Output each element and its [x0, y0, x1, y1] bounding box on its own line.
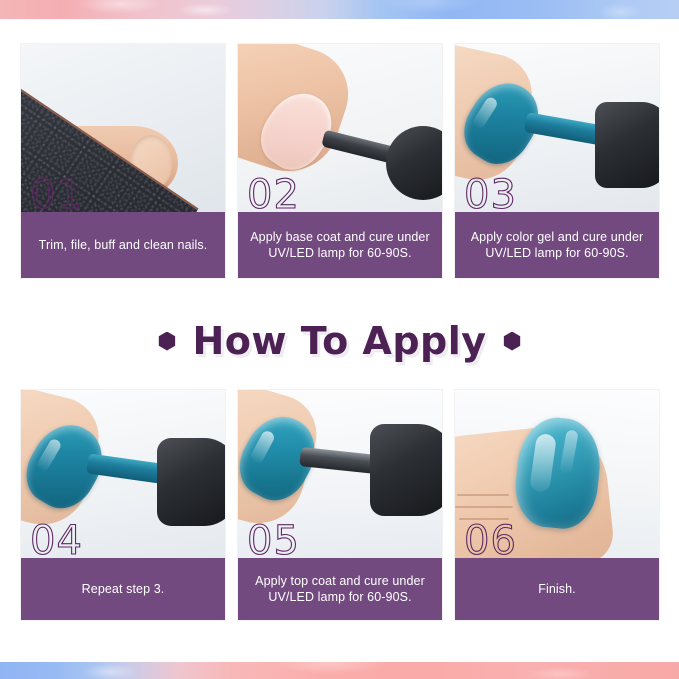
- step-image-05: 05: [238, 390, 442, 558]
- step-image-03: 03: [455, 44, 659, 212]
- step-image-06: 06: [455, 390, 659, 558]
- step-card-03[interactable]: 03 Apply color gel and cure under UV/LED…: [455, 44, 659, 278]
- bottle-cap: [157, 438, 225, 526]
- step-number-06: 06: [464, 521, 517, 558]
- step-caption-04: Repeat step 3.: [21, 558, 225, 620]
- bottle-cap: [595, 102, 659, 188]
- hexagon-dot-left-icon: [157, 332, 176, 351]
- step-image-02: 02: [238, 44, 442, 212]
- step-number-05: 05: [247, 521, 300, 558]
- steps-row-bottom: 04 Repeat step 3. 05 Apply top coat and …: [21, 390, 659, 620]
- bottom-watercolor-band: [0, 662, 679, 679]
- section-title: How To Apply: [0, 310, 679, 372]
- step-card-01[interactable]: 01 Trim, file, buff and clean nails.: [21, 44, 225, 278]
- title-text: How To Apply: [192, 319, 486, 363]
- finger-crease: [455, 506, 513, 508]
- step-caption-01: Trim, file, buff and clean nails.: [21, 212, 225, 278]
- step-card-05[interactable]: 05 Apply top coat and cure under UV/LED …: [238, 390, 442, 620]
- step-card-06[interactable]: 06 Finish.: [455, 390, 659, 620]
- step-image-04: 04: [21, 390, 225, 558]
- step-caption-02: Apply base coat and cure under UV/LED la…: [238, 212, 442, 278]
- finger-crease: [457, 494, 509, 496]
- top-watercolor-band: [0, 0, 679, 19]
- step-number-01: 01: [30, 175, 83, 212]
- step-caption-03: Apply color gel and cure under UV/LED la…: [455, 212, 659, 278]
- bottle-cap: [370, 424, 442, 516]
- step-card-02[interactable]: 02 Apply base coat and cure under UV/LED…: [238, 44, 442, 278]
- steps-row-top: 01 Trim, file, buff and clean nails. 02 …: [21, 44, 659, 278]
- step-image-01: 01: [21, 44, 225, 212]
- step-caption-05: Apply top coat and cure under UV/LED lam…: [238, 558, 442, 620]
- step-card-04[interactable]: 04 Repeat step 3.: [21, 390, 225, 620]
- step-number-04: 04: [30, 521, 83, 558]
- step-number-03: 03: [464, 175, 517, 212]
- step-caption-06: Finish.: [455, 558, 659, 620]
- step-number-02: 02: [247, 175, 300, 212]
- hexagon-dot-right-icon: [503, 332, 522, 351]
